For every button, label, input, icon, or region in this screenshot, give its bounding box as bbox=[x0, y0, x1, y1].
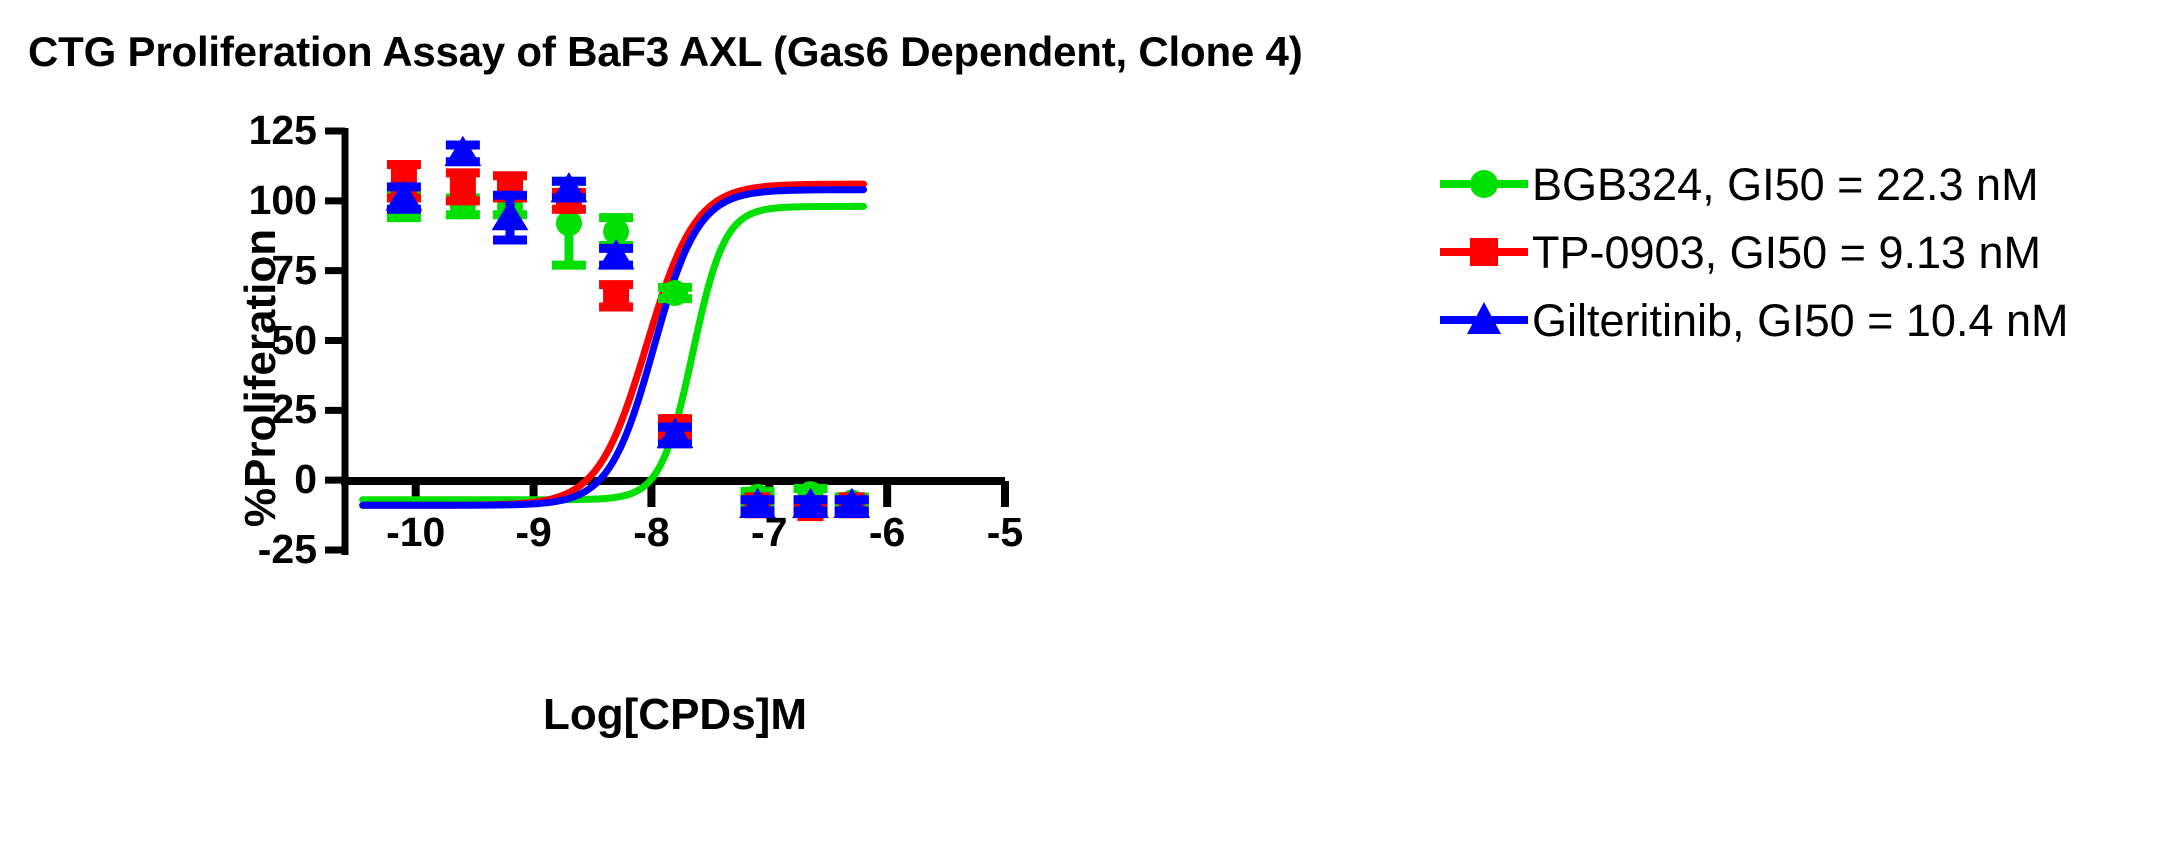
legend-item[interactable]: BGB324, GI50 = 22.3 nM bbox=[1436, 150, 2069, 218]
data-series-layer bbox=[363, 136, 871, 521]
data-point-square bbox=[603, 283, 629, 309]
data-point-circle bbox=[556, 210, 582, 236]
y-axis-tick-label: 125 bbox=[197, 110, 317, 151]
y-axis-tick-label: 100 bbox=[197, 180, 317, 221]
x-axis-tick-label: -9 bbox=[479, 512, 589, 553]
x-axis-tick-label: -8 bbox=[596, 512, 706, 553]
y-axis-tick-label: 0 bbox=[197, 459, 317, 500]
legend-circle-icon bbox=[1470, 170, 1498, 198]
data-point-square bbox=[450, 174, 476, 200]
legend-marker-circle-icon bbox=[1436, 150, 1532, 218]
x-axis-tick-label: -10 bbox=[361, 512, 471, 553]
legend-item-label: BGB324, GI50 = 22.3 nM bbox=[1532, 162, 2039, 207]
legend-marker-triangle-icon bbox=[1436, 286, 1532, 354]
legend-item[interactable]: Gilteritinib, GI50 = 10.4 nM bbox=[1436, 286, 2069, 354]
y-axis-tick-label: 50 bbox=[197, 320, 317, 361]
y-axis-tick-label: 75 bbox=[197, 250, 317, 291]
plot-area: %Proliferation Log[CPDs]M 1251007550250-… bbox=[0, 0, 1400, 855]
y-axis-tick-label: -25 bbox=[197, 529, 317, 570]
data-point-circle bbox=[662, 280, 688, 306]
x-axis-tick-label: -5 bbox=[950, 512, 1060, 553]
axis-lines bbox=[341, 128, 1005, 555]
x-axis-title: Log[CPDs]M bbox=[345, 690, 1005, 740]
legend: BGB324, GI50 = 22.3 nMTP-0903, GI50 = 9.… bbox=[1436, 150, 2069, 354]
series-bgb324 bbox=[387, 181, 869, 515]
legend-item[interactable]: TP-0903, GI50 = 9.13 nM bbox=[1436, 218, 2069, 286]
x-axis-tick-label: -6 bbox=[832, 512, 942, 553]
legend-item-label: Gilteritinib, GI50 = 10.4 nM bbox=[1532, 298, 2069, 343]
data-point-triangle bbox=[444, 136, 481, 166]
y-axis-tick-label: 25 bbox=[197, 389, 317, 430]
legend-item-label: TP-0903, GI50 = 9.13 nM bbox=[1532, 230, 2041, 275]
chart-figure: CTG Proliferation Assay of BaF3 AXL (Gas… bbox=[0, 0, 2174, 855]
legend-square-icon bbox=[1470, 238, 1498, 266]
legend-marker-square-icon bbox=[1436, 218, 1532, 286]
x-axis-tick-label: -7 bbox=[714, 512, 824, 553]
data-point-triangle bbox=[551, 172, 588, 202]
